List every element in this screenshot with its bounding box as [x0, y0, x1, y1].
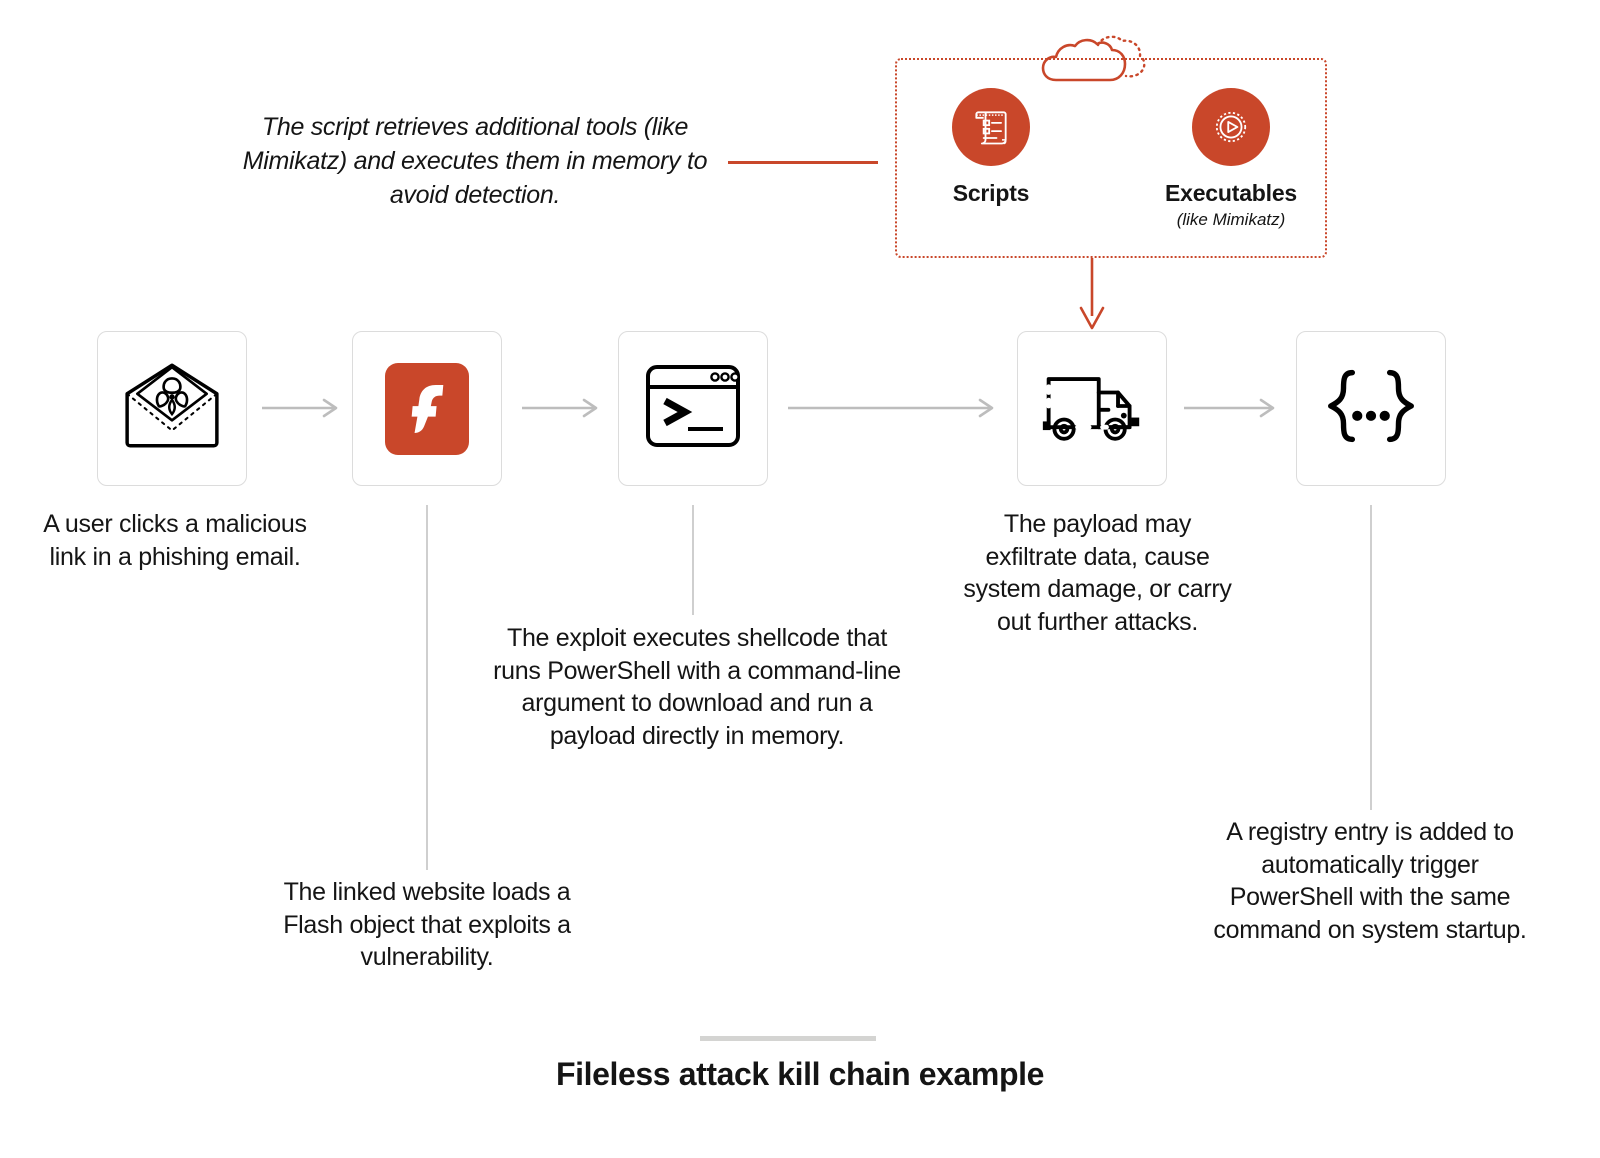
diagram-canvas: The script retrieves additional tools (l… — [0, 0, 1600, 1158]
cloud-icon — [1040, 34, 1150, 86]
biohazard-envelope-icon — [121, 363, 223, 454]
tools-to-payload-arrow — [1074, 258, 1110, 330]
script-scroll-icon — [952, 88, 1030, 166]
caption-payload: The payload may exfiltrate data, cause s… — [955, 508, 1240, 638]
flash-exploit-node[interactable] — [352, 331, 502, 486]
footer-divider — [700, 1036, 876, 1041]
tool-executables-label: Executables — [1156, 180, 1306, 207]
chain-arrow-2 — [522, 398, 602, 418]
phishing-email-node[interactable] — [97, 331, 247, 486]
tool-annotation-text: The script retrieves additional tools (l… — [230, 110, 720, 212]
leader-line-powershell — [692, 505, 694, 615]
tool-executables-sublabel: (like Mimikatz) — [1156, 210, 1306, 230]
tool-executables[interactable]: Executables (like Mimikatz) — [1156, 88, 1306, 230]
delivery-truck-icon — [1039, 367, 1145, 450]
tool-scripts[interactable]: Scripts — [916, 88, 1066, 207]
page-title: Fileless attack kill chain example — [0, 1056, 1600, 1093]
chain-arrow-3 — [788, 398, 998, 418]
powershell-node[interactable] — [618, 331, 768, 486]
registry-persistence-node[interactable] — [1296, 331, 1446, 486]
chain-arrow-4 — [1184, 398, 1279, 418]
chain-arrow-1 — [262, 398, 342, 418]
leader-line-flash — [426, 505, 428, 870]
leader-line-registry — [1370, 505, 1372, 810]
annotation-connector-line — [728, 161, 878, 164]
flash-logo-icon — [385, 363, 469, 455]
tool-icon-row: Scripts Executables (like Mimikatz) — [895, 88, 1327, 238]
payload-delivery-node[interactable] — [1017, 331, 1167, 486]
caption-email: A user clicks a malicious link in a phis… — [40, 508, 310, 573]
caption-registry: A registry entry is added to automatical… — [1200, 816, 1540, 946]
caption-flash: The linked website loads a Flash object … — [262, 876, 592, 974]
terminal-prompt-icon — [643, 363, 743, 454]
tool-scripts-label: Scripts — [916, 180, 1066, 207]
gear-play-icon — [1192, 88, 1270, 166]
curly-braces-icon — [1317, 368, 1425, 449]
caption-powershell: The exploit executes shellcode that runs… — [487, 622, 907, 752]
